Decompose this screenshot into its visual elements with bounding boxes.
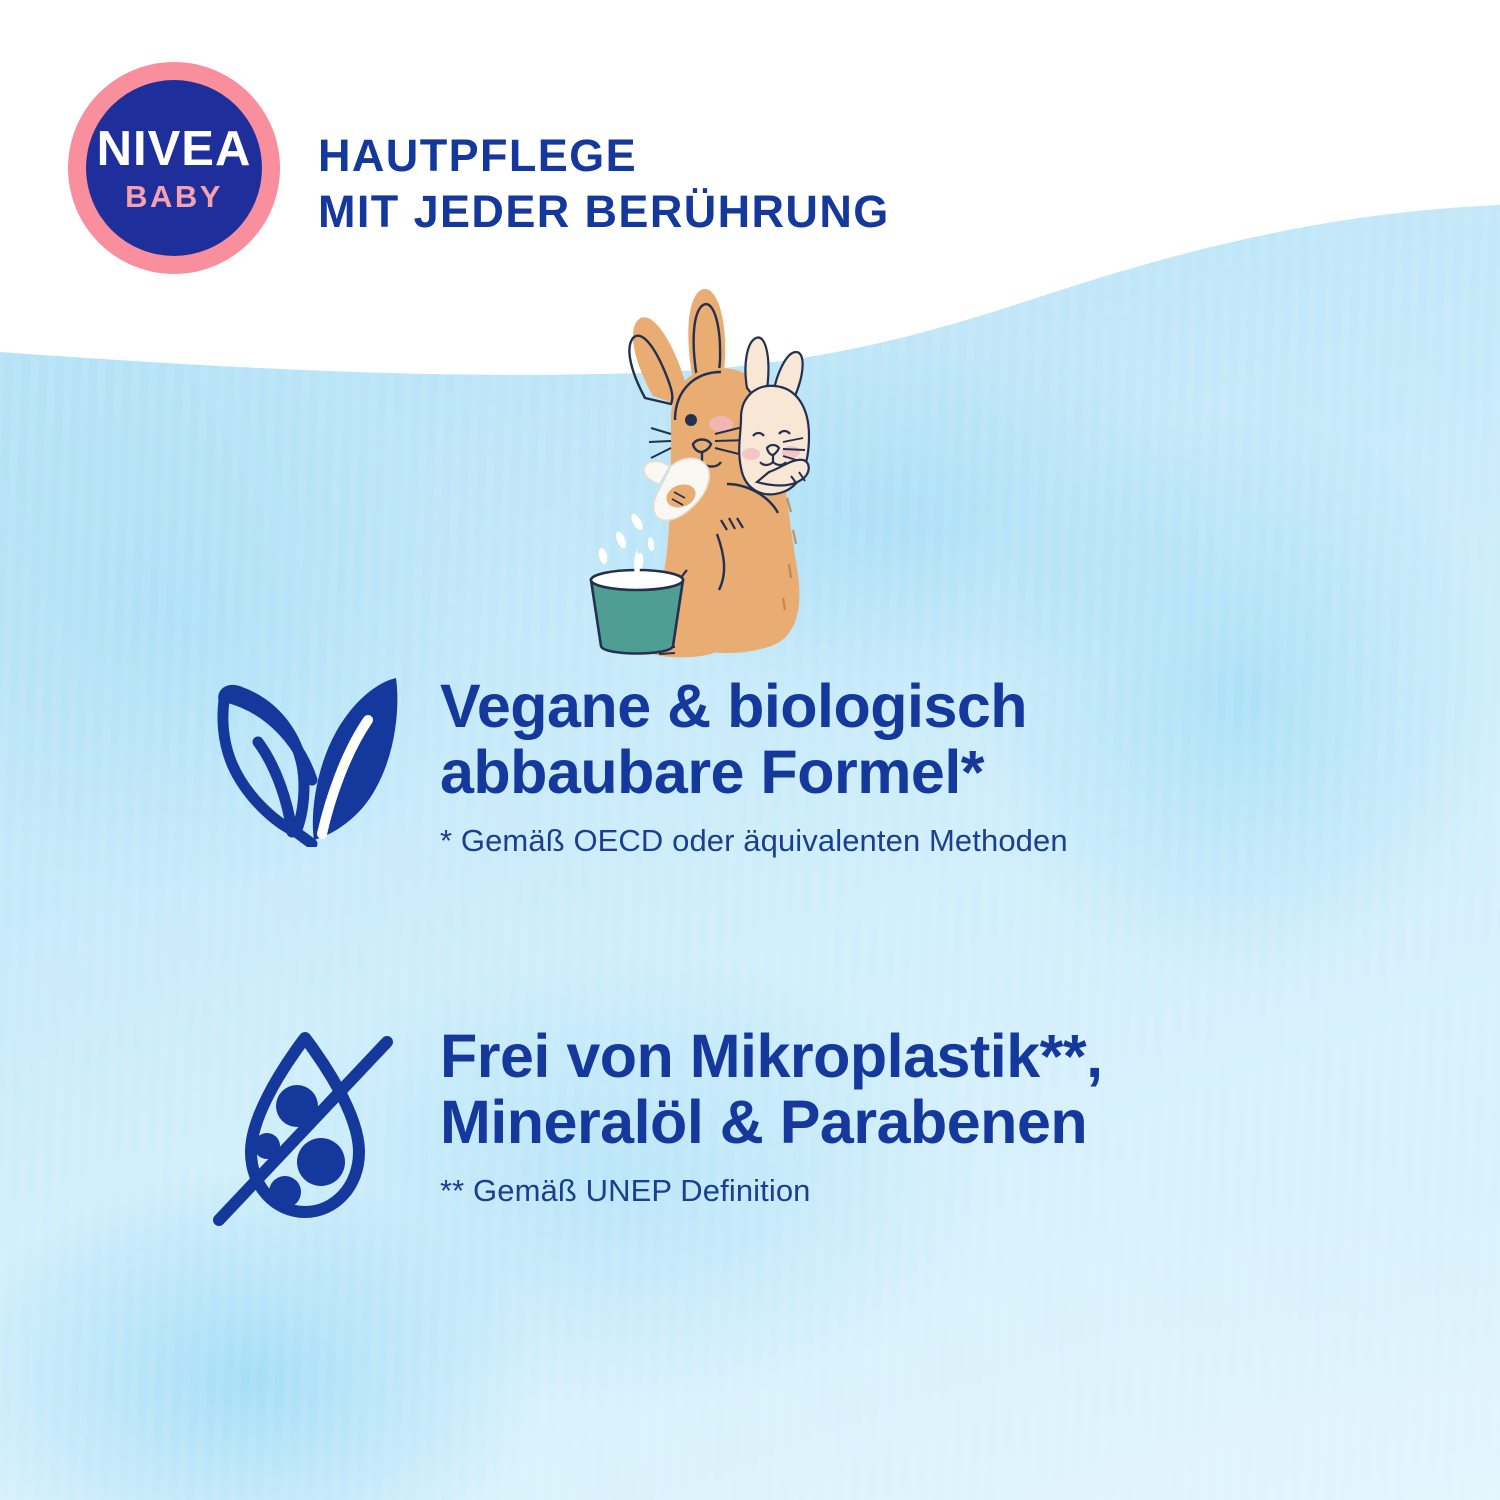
claim-title: Frei von Mikroplastik**, Mineralöl & Par…: [440, 1024, 1103, 1156]
claim-icon-slot: [175, 1018, 440, 1237]
logo-wordmark-baby: BABY: [125, 181, 223, 212]
claim-title: Vegane & biologisch abbaubare Formel*: [440, 674, 1068, 806]
claim-footnote: ** Gemäß UNEP Definition: [440, 1172, 1103, 1209]
nivea-baby-logo: NIVEA BABY: [68, 62, 280, 274]
rabbit-illustration: [575, 268, 895, 668]
claim-free-from-microplastic: Frei von Mikroplastik**, Mineralöl & Par…: [175, 1018, 1103, 1237]
claim-icon-slot: [175, 668, 440, 847]
page-title: HAUTPFLEGE MIT JEDER BERÜHRUNG: [318, 128, 890, 240]
leaf-icon: [200, 672, 415, 847]
logo-wordmark-nivea: NIVEA: [97, 125, 252, 174]
claim-text-block: Vegane & biologisch abbaubare Formel* * …: [440, 668, 1068, 859]
headline-line-2: MIT JEDER BERÜHRUNG: [318, 184, 890, 240]
baby-rabbit: [739, 337, 809, 494]
mother-eye: [685, 414, 697, 426]
headline-line-1: HAUTPFLEGE: [318, 128, 890, 184]
no-microplastic-droplet-icon: [205, 1022, 410, 1237]
claim-text-block: Frei von Mikroplastik**, Mineralöl & Par…: [440, 1018, 1103, 1209]
claim-vegan-biodegradable: Vegane & biologisch abbaubare Formel* * …: [175, 668, 1068, 859]
particle-dot: [269, 1176, 301, 1208]
particle-dot: [297, 1138, 345, 1186]
logo-circle: NIVEA BABY: [86, 80, 262, 256]
promo-image-canvas: NIVEA BABY HAUTPFLEGE MIT JEDER BERÜHRUN…: [0, 0, 1500, 1500]
claim-footnote: * Gemäß OECD oder äquivalenten Methoden: [440, 822, 1068, 859]
